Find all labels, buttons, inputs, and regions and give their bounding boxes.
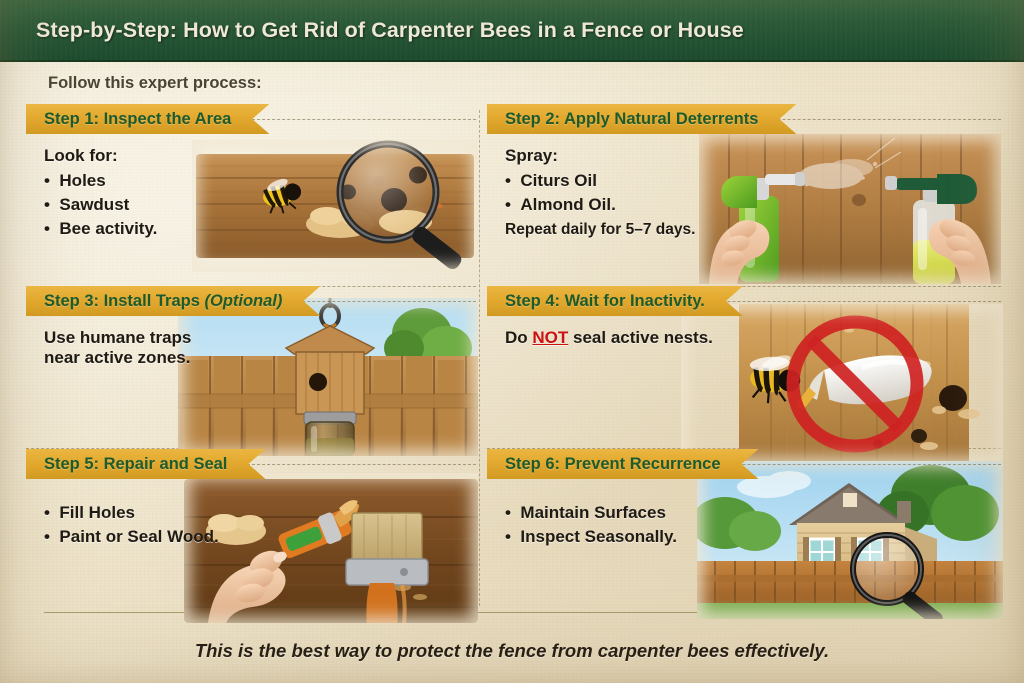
step-5-text: Fill Holes Paint or Seal Wood.	[26, 501, 476, 549]
step-3-text: Use humane traps near active zones.	[26, 328, 476, 368]
step-4-banner-label: Step 4: Wait for Inactivity.	[505, 292, 705, 310]
step-card-1: Step 1: Inspect the Area Look for: Holes…	[26, 104, 476, 284]
trap-entry-hole-icon	[309, 373, 327, 391]
step-2-banner: Step 2: Apply Natural Deterrents	[487, 104, 796, 134]
list-item: Paint or Seal Wood.	[44, 525, 476, 549]
step-2-lead: Spray:	[505, 146, 1001, 166]
footer-bar: This is the best way to protect the fenc…	[0, 618, 1024, 683]
step-card-2: Step 2: Apply Natural Deterrents Spray: …	[487, 104, 1001, 284]
step-1-text: Look for: Holes Sawdust Bee activity.	[26, 146, 476, 241]
step-5-bullets: Fill Holes Paint or Seal Wood.	[44, 501, 476, 549]
list-item: Fill Holes	[44, 501, 476, 525]
list-item: Citurs Oil	[505, 169, 1001, 193]
step-card-3: Step 3: Install Traps (Optional) Use hum…	[26, 286, 476, 448]
step-6-bullets: Maintain Surfaces Inspect Seasonally.	[505, 501, 1001, 549]
step-3-optional-tag: (Optional)	[204, 292, 282, 310]
list-item: Inspect Seasonally.	[505, 525, 1001, 549]
step-1-banner: Step 1: Inspect the Area	[26, 104, 269, 134]
step-5-banner: Step 5: Repair and Seal	[26, 449, 265, 479]
step-3-line-1: Use humane traps	[44, 328, 476, 348]
list-item: Sawdust	[44, 193, 476, 217]
steps-grid: Step 1: Inspect the Area Look for: Holes…	[0, 104, 1024, 612]
step-3-banner-label: Step 3: Install Traps	[44, 292, 200, 310]
step-4-banner: Step 4: Wait for Inactivity.	[487, 286, 743, 316]
fence-icon	[697, 561, 1003, 603]
step-6-text: Maintain Surfaces Inspect Seasonally.	[487, 501, 1001, 549]
step-2-note: Repeat daily for 5–7 days.	[505, 221, 1001, 239]
step-1-banner-label: Step 1: Inspect the Area	[44, 110, 231, 128]
step-4-warning-after: seal active nests.	[568, 328, 713, 347]
step-2-text: Spray: Citurs Oil Almond Oil. Repeat dai…	[487, 146, 1001, 239]
step-3-illustration	[178, 298, 478, 456]
step-card-4: Step 4: Wait for Inactivity. Do NOT seal…	[487, 286, 1001, 448]
step-3-banner: Step 3: Install Traps (Optional)	[26, 286, 320, 316]
header-bar: Step-by-Step: How to Get Rid of Carpente…	[0, 0, 1024, 62]
step-1-lead: Look for:	[44, 146, 476, 166]
page-title: Step-by-Step: How to Get Rid of Carpente…	[0, 18, 744, 43]
list-item: Almond Oil.	[505, 193, 1001, 217]
step-3-line-2: near active zones.	[44, 348, 476, 368]
step-card-5: Step 5: Repair and Seal Fill Holes Paint…	[26, 449, 476, 612]
list-item: Holes	[44, 169, 476, 193]
step-4-warning: Do NOT seal active nests.	[505, 328, 1001, 348]
step-2-banner-label: Step 2: Apply Natural Deterrents	[505, 110, 758, 128]
step-4-warning-emphasis: NOT	[532, 328, 568, 347]
step-6-banner-label: Step 6: Prevent Recurrence	[505, 455, 721, 473]
footer-text: This is the best way to protect the fenc…	[195, 640, 829, 662]
step-4-warning-before: Do	[505, 328, 532, 347]
intro-text: Follow this expert process:	[48, 74, 262, 93]
step-4-text: Do NOT seal active nests.	[487, 328, 1001, 348]
step-card-6: Step 6: Prevent Recurrence Maintain Surf…	[487, 449, 1001, 612]
list-item: Bee activity.	[44, 217, 476, 241]
step-1-bullets: Holes Sawdust Bee activity.	[44, 169, 476, 241]
list-item: Maintain Surfaces	[505, 501, 1001, 525]
step-6-banner: Step 6: Prevent Recurrence	[487, 449, 759, 479]
step-2-bullets: Citurs Oil Almond Oil.	[505, 169, 1001, 217]
step-5-banner-label: Step 5: Repair and Seal	[44, 455, 227, 473]
